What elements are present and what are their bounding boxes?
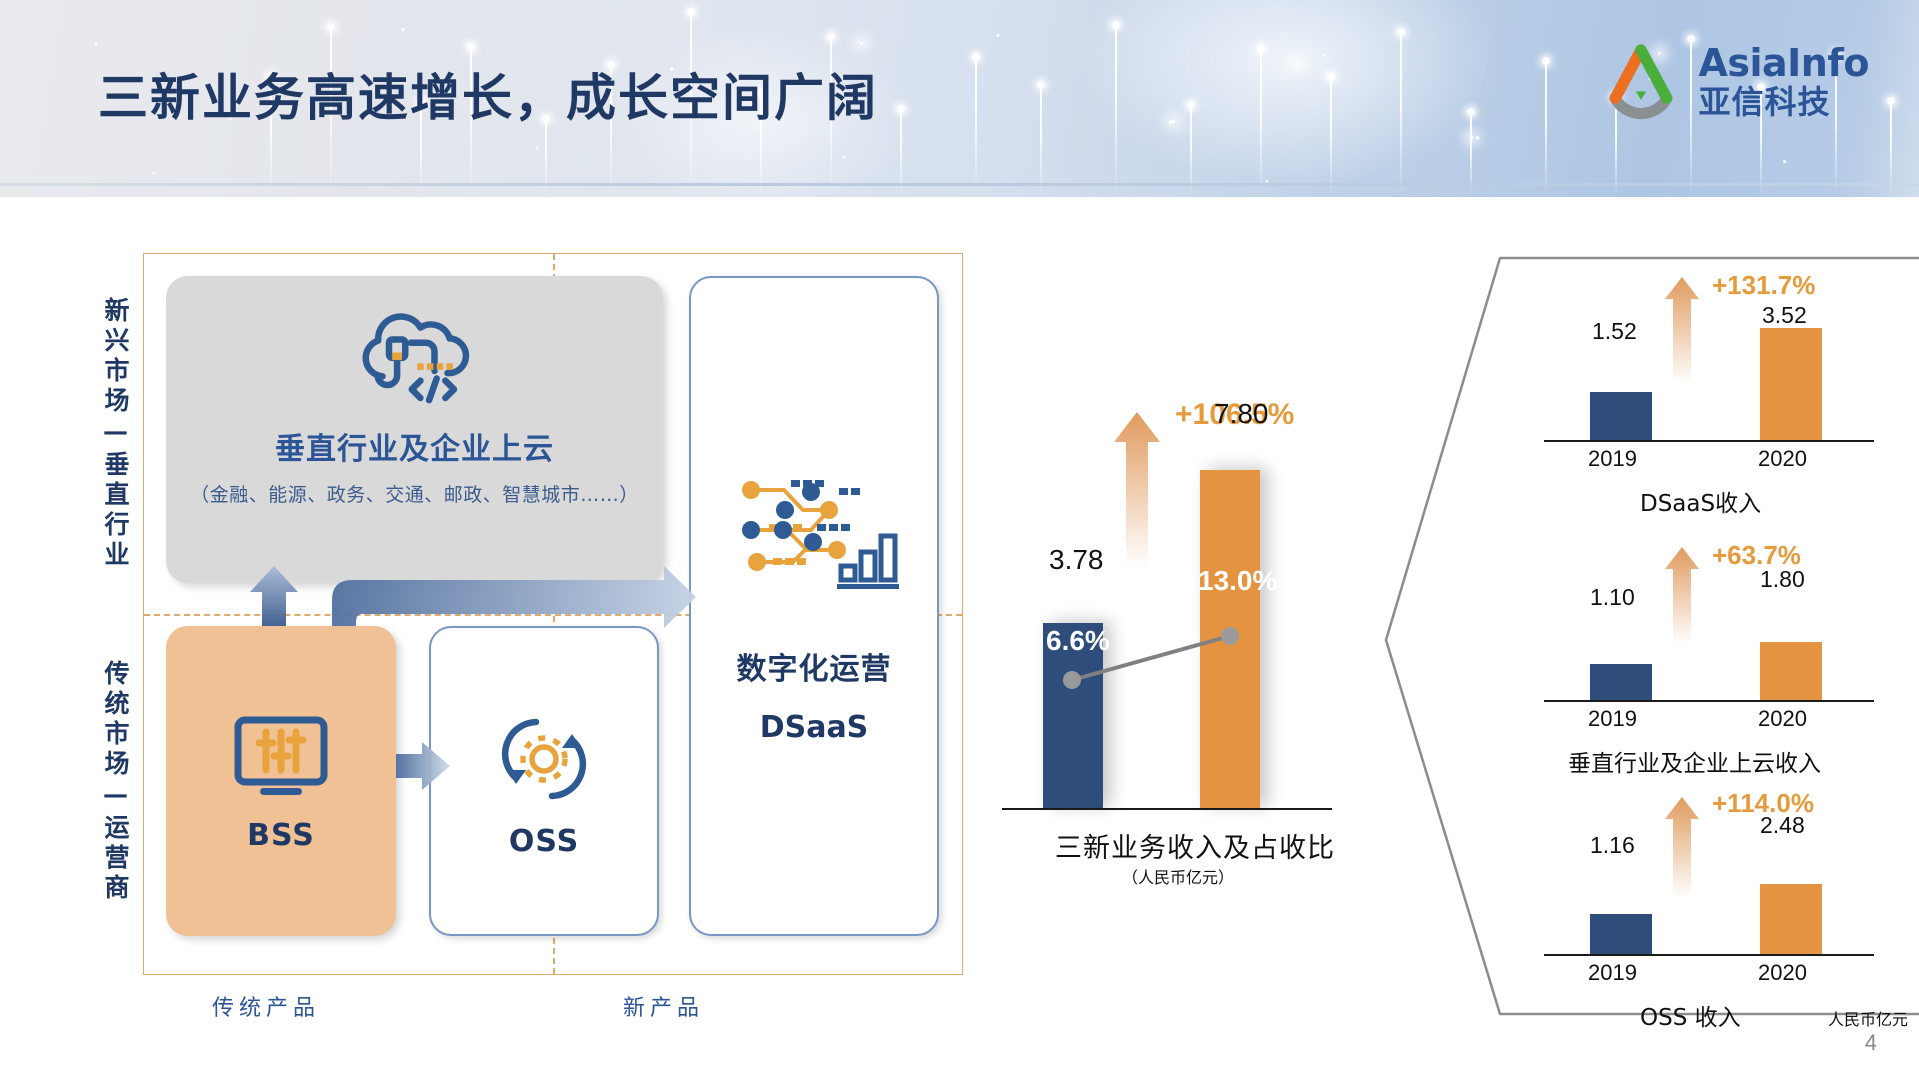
card-oss[interactable]: OSS (429, 626, 659, 936)
year-oss-2019: 2019 (1588, 960, 1637, 986)
asiainfo-logo: AsiaInfo 亚信科技 (1598, 38, 1869, 124)
slide: 三新业务高速增长，成长空间广阔 AsiaInfo 亚信科技 新兴市场—垂直行业 … (0, 0, 1919, 1080)
title-dsaas-revenue: DSaaS收入 (1640, 484, 1761, 518)
logo-text-en: AsiaInfo (1698, 44, 1869, 82)
card-vertical-subtitle: （金融、能源、政务、交通、邮政、智慧城市……） (190, 480, 639, 507)
axis-dsaas (1544, 440, 1874, 443)
page-title: 三新业务高速增长，成长空间广阔 (98, 58, 878, 130)
share-label-2020: 13.0% (1198, 565, 1277, 597)
matrix-y-axis-bottom-label: 传统市场—运营商 (97, 660, 133, 904)
matrix-x-axis-left-label: 传统产品 (212, 990, 320, 1022)
market-product-matrix: 垂直行业及企业上云 （金融、能源、政务、交通、邮政、智慧城市……） BSS (143, 253, 963, 975)
bar-value-2020: 7.80 (1214, 398, 1269, 430)
bar-value-oss-2019: 1.16 (1590, 832, 1635, 859)
axis-vertical (1544, 700, 1874, 703)
bar-value-2019: 3.78 (1049, 544, 1104, 576)
right-callout-panel: +131.7% 1.52 3.52 2019 2020 DSaaS收入 +63.… (1382, 250, 1919, 1022)
year-oss-2020: 2020 (1758, 960, 1807, 986)
chart-three-new-business: +106.5% 3.78 6.6% 7.80 13.0% (1000, 380, 1340, 810)
card-dsaas-subtitle: DSaaS (760, 710, 869, 745)
card-oss-label: OSS (509, 824, 579, 859)
bar-2020 (1200, 470, 1260, 808)
card-vertical-industry-cloud[interactable]: 垂直行业及企业上云 （金融、能源、政务、交通、邮政、智慧城市……） (166, 276, 663, 583)
growth-up-arrow-icon-dsaas (1662, 274, 1702, 384)
chart-vertical-cloud-revenue: +63.7% 1.10 1.80 2019 2020 垂直行业及企业上云收入 (1544, 548, 1874, 748)
bar-value-vertical-2019: 1.10 (1590, 584, 1635, 611)
bar-dsaas-2020 (1760, 328, 1822, 440)
bar-oss-2020 (1760, 884, 1822, 954)
cloud-code-icon (350, 294, 480, 424)
asiainfo-ring-icon (1598, 38, 1684, 124)
bar-value-dsaas-2020: 3.52 (1762, 302, 1807, 329)
growth-up-arrow-icon-oss (1662, 794, 1702, 898)
card-dsaas-title: 数字化运营 (737, 644, 892, 688)
logo-text-cn: 亚信科技 (1698, 86, 1869, 118)
unit-oss-revenue: 人民币亿元 (1828, 1006, 1908, 1030)
bar-value-dsaas-2019: 1.52 (1592, 318, 1637, 345)
bar-oss-2019 (1590, 914, 1652, 954)
data-network-chart-icon (729, 468, 899, 608)
bar-value-oss-2020: 2.48 (1760, 812, 1805, 839)
year-dsaas-2020: 2020 (1758, 446, 1807, 472)
banner-divider (0, 183, 1919, 186)
chart-dsaas-revenue: +131.7% 1.52 3.52 2019 2020 DSaaS收入 (1544, 288, 1874, 488)
header-banner: 三新业务高速增长，成长空间广阔 AsiaInfo 亚信科技 (0, 0, 1919, 197)
chart-three-new-unit: （人民币亿元） (1122, 864, 1234, 888)
gear-refresh-icon (486, 704, 602, 814)
card-dsaas[interactable]: 数字化运营 DSaaS (689, 276, 939, 936)
matrix-y-axis-top-label: 新兴市场—垂直行业 (97, 297, 133, 571)
chart-baseline-axis (1002, 808, 1332, 811)
growth-label-dsaas: +131.7% (1712, 270, 1815, 301)
year-vertical-2019: 2019 (1588, 706, 1637, 732)
matrix-x-axis-right-label: 新产品 (623, 990, 704, 1022)
title-oss-revenue: OSS 收入 (1640, 998, 1741, 1032)
title-vertical-cloud-revenue: 垂直行业及企业上云收入 (1568, 744, 1821, 778)
card-vertical-title: 垂直行业及企业上云 (275, 424, 554, 468)
card-bss-label: BSS (247, 818, 315, 853)
growth-up-arrow-icon (1110, 408, 1164, 568)
bar-dsaas-2019 (1590, 392, 1652, 440)
bar-vertical-2020 (1760, 642, 1822, 700)
growth-up-arrow-icon-vertical (1662, 544, 1702, 644)
bar-value-vertical-2020: 1.80 (1760, 566, 1805, 593)
share-label-2019: 6.6% (1046, 625, 1110, 657)
year-vertical-2020: 2020 (1758, 706, 1807, 732)
card-bss[interactable]: BSS (166, 626, 396, 936)
monitor-sliders-icon (226, 710, 336, 810)
bar-vertical-2019 (1590, 664, 1652, 700)
year-dsaas-2019: 2019 (1588, 446, 1637, 472)
chart-oss-revenue: +114.0% 1.16 2.48 2019 2020 OSS 收入 人民币亿元 (1544, 802, 1874, 1002)
axis-oss (1544, 954, 1874, 957)
page-number: 4 (1865, 1030, 1877, 1056)
chart-three-new-title: 三新业务收入及占收比 (1055, 826, 1335, 865)
